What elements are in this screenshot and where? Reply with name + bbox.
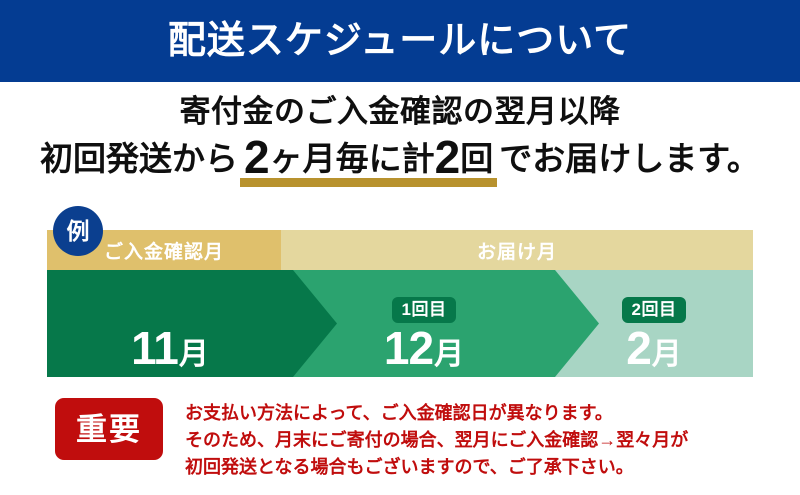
timeline-segment-delivery-1: 1回目 12 月 [293,270,599,377]
notice-line-3: 初回発送となる場合もございますので、ご了承下さい。 [185,454,688,481]
example-badge: 例 [53,206,103,256]
highlight-total-number: 2 [435,139,461,176]
example-badge-label: 例 [67,220,90,243]
important-notice: 重要 お支払い方法によって、ご入金確認日が異なります。 そのため、月末にご寄付の… [55,398,755,481]
timeline-header-payment-label: ご入金確認月 [104,237,224,264]
notice-text-block: お支払い方法によって、ご入金確認日が異なります。 そのため、月末にご寄付の場合、… [185,398,688,481]
subtitle-prefix: 初回発送から [40,134,238,184]
subtitle-highlight: 2 ヶ月毎に計 2 回 [240,134,497,184]
timeline-segment-payment-month: 11 月 [47,270,337,377]
month-number-1: 11 [131,325,178,371]
delivery-timeline: ご入金確認月 お届け月 11 月 1回目 12 月 [47,230,753,377]
month-label-1: 11 月 [131,325,209,371]
subtitle-line-1: 寄付金のご入金確認の翌月以降 [0,90,800,134]
subtitle-block: 寄付金のご入金確認の翌月以降 初回発送から 2 ヶ月毎に計 2 回 でお届けしま… [0,90,800,184]
timeline-header-row: ご入金確認月 お届け月 [47,230,753,270]
highlight-total-unit: 回 [460,134,493,184]
important-badge-label: 重要 [76,414,142,445]
page-title: 配送スケジュールについて [168,22,632,60]
notice-line-2: そのため、月末にご寄付の場合、翌月にご入金確認→翌々月が [185,427,688,454]
delivery-count-badge-1: 1回目 [392,297,457,323]
notice-line-1: お支払い方法によって、ご入金確認日が異なります。 [185,400,688,427]
timeline-header-delivery-label: お届け月 [477,237,557,264]
highlight-interval-number: 2 [244,139,270,176]
month-suffix-1: 月 [179,340,209,370]
highlight-interval-unit: ヶ月毎に計 [270,134,435,184]
important-badge: 重要 [55,398,163,460]
subtitle-line-2: 初回発送から 2 ヶ月毎に計 2 回 でお届けします。 [0,134,800,184]
month-label-2: 12 月 [384,325,464,371]
timeline-segments: 11 月 1回目 12 月 2回目 2 月 [47,270,753,377]
subtitle-suffix: でお届けします。 [499,134,760,184]
delivery-count-badge-2: 2回目 [622,297,687,323]
month-number-3: 2 [626,325,651,371]
month-suffix-2: 月 [434,340,464,370]
month-number-2: 12 [384,325,433,371]
month-suffix-3: 月 [652,340,682,370]
timeline-header-delivery: お届け月 [281,230,753,270]
month-label-3: 2 月 [626,325,682,371]
header-banner: 配送スケジュールについて [0,0,800,82]
